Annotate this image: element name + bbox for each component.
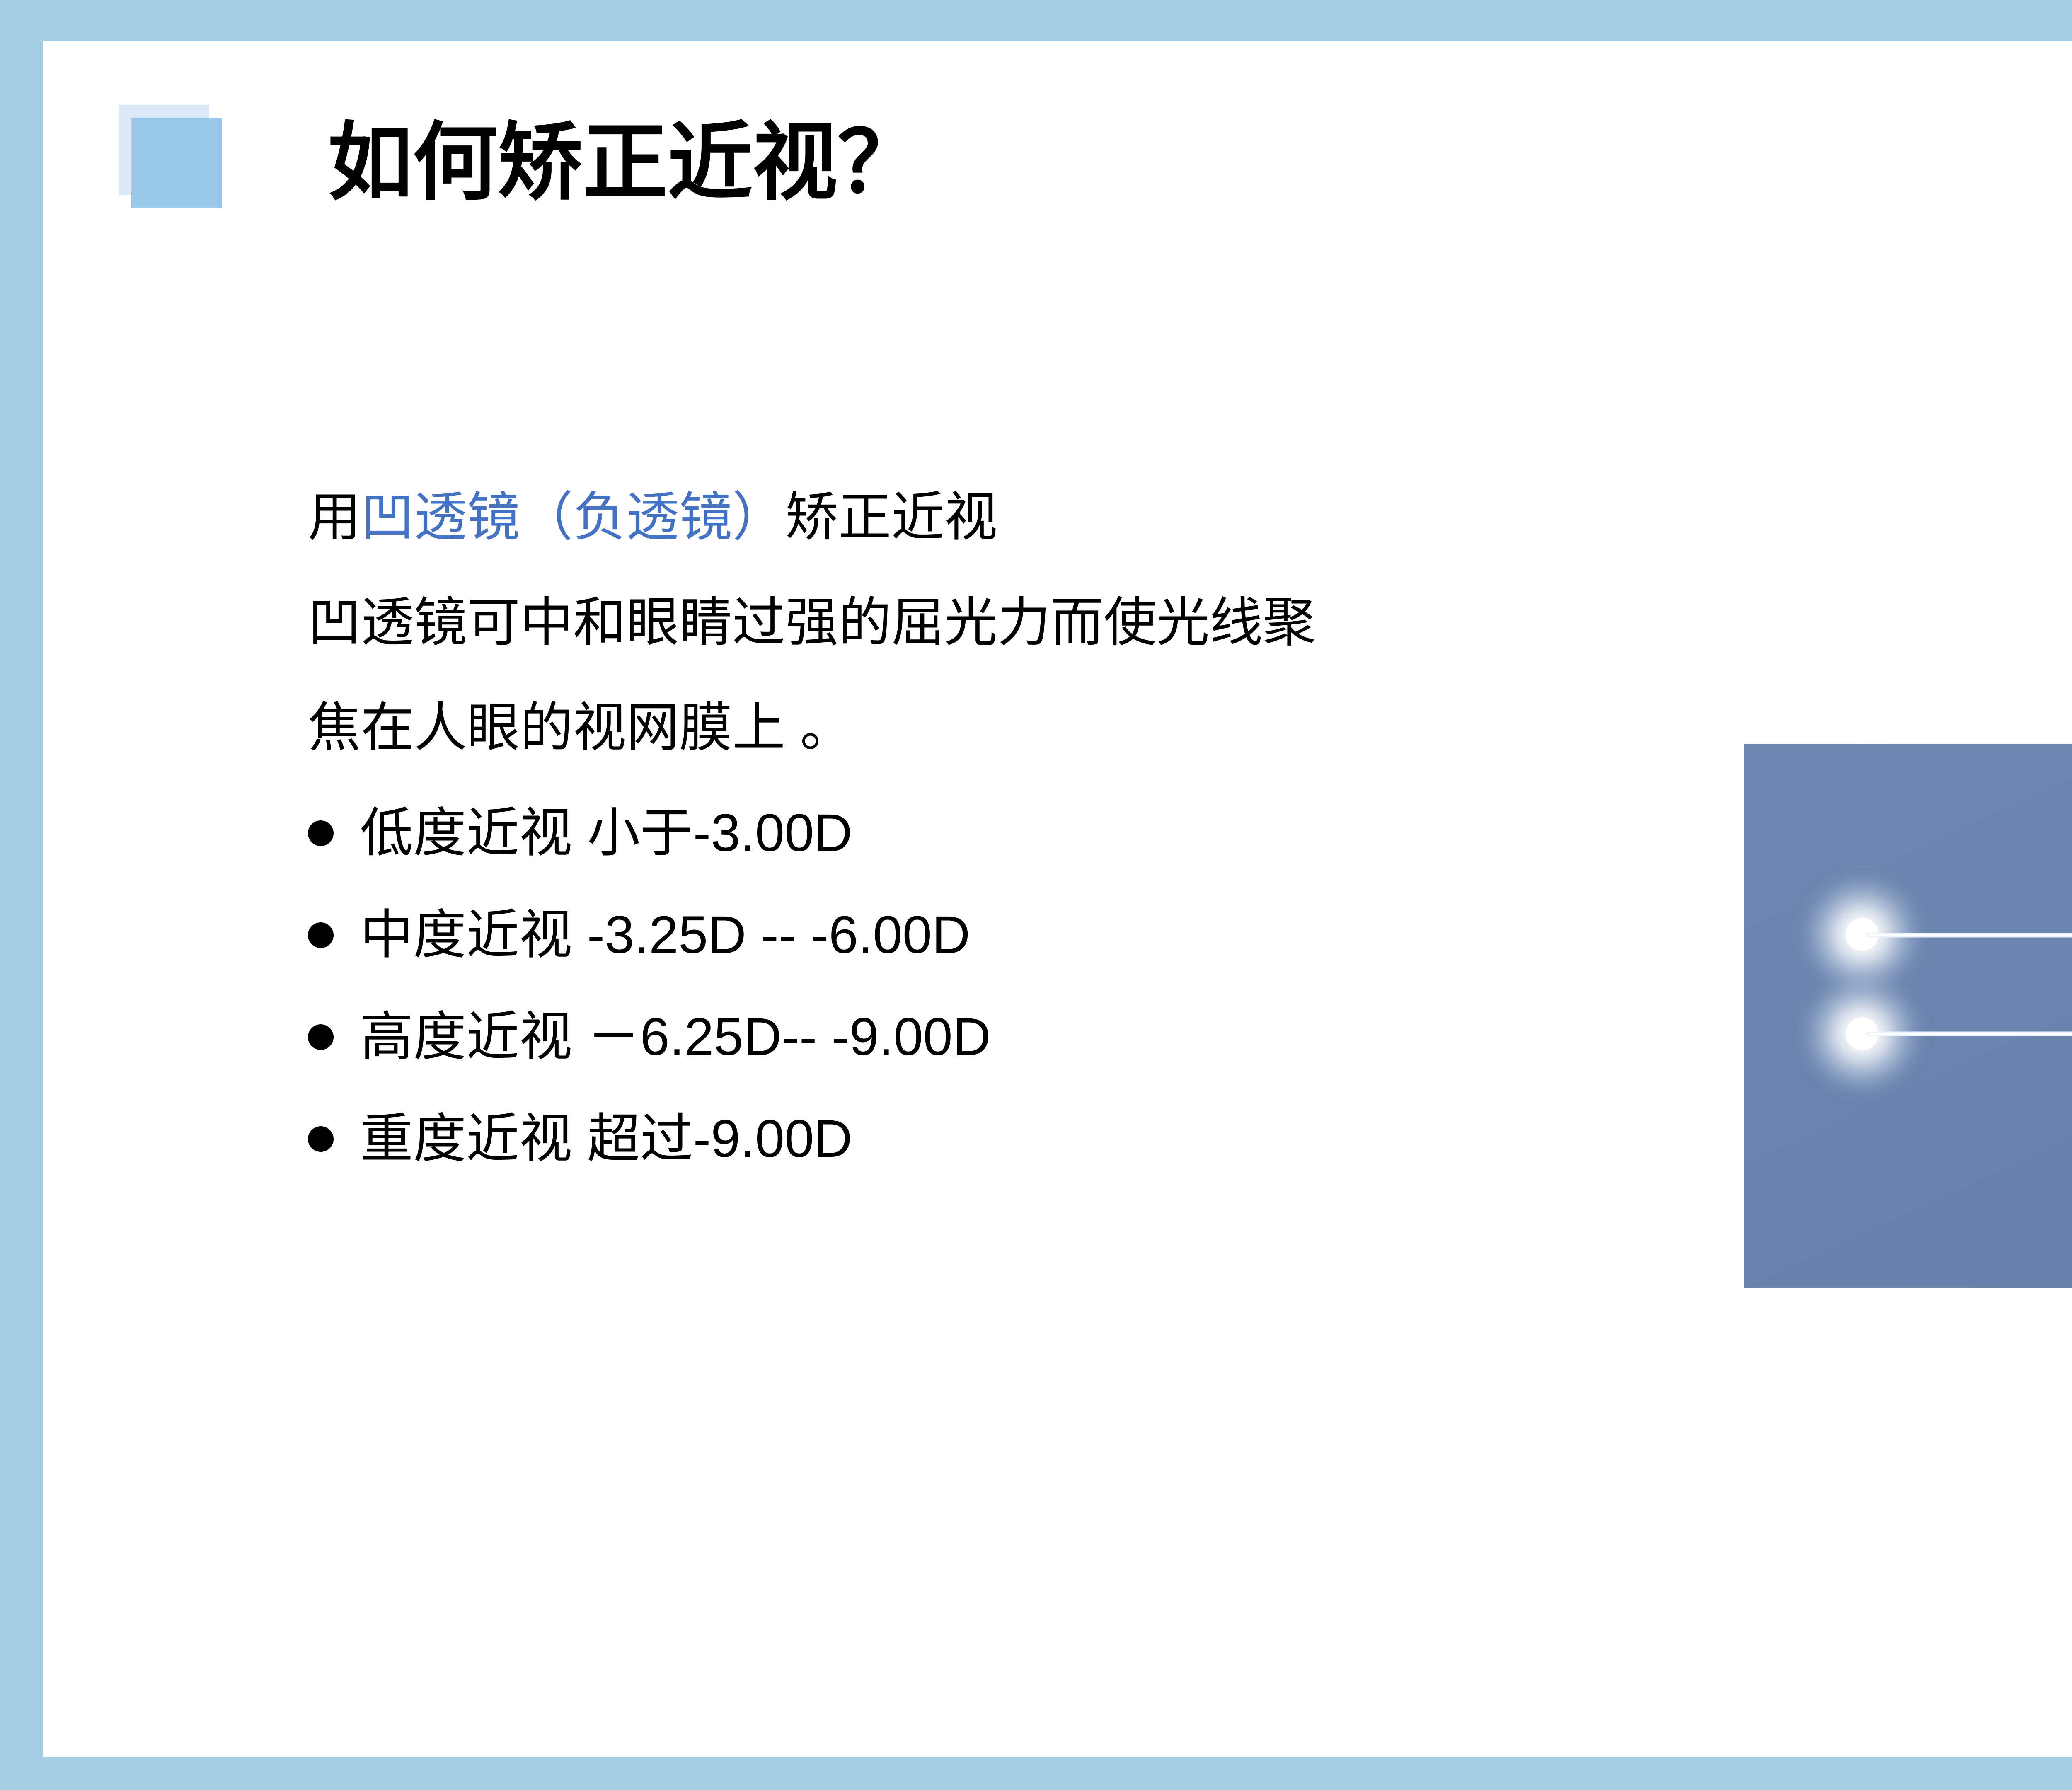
body-text-column: 用凹透镜（负透镜）矫正近视 凹透镜可中和眼睛过强的屈光力而使光线聚 焦在人眼的视…	[308, 491, 1675, 1214]
slide-background: 如何矫正近视？ 用凹透镜（负透镜）矫正近视 凹透镜可中和眼睛过强的屈光力而使光线…	[0, 0, 2072, 1790]
title-decoration-square-front	[131, 118, 222, 208]
bullet-dot-icon	[308, 820, 334, 846]
slide-canvas: 如何矫正近视？ 用凹透镜（负透镜）矫正近视 凹透镜可中和眼睛过强的屈光力而使光线…	[43, 41, 2072, 1757]
myopia-severity-list: 低度近视 小于-3.00D 中度近视 -3.25D -- -6.00D 高度近视…	[308, 807, 1675, 1166]
list-item: 低度近视 小于-3.00D	[308, 807, 1675, 860]
paragraph-1-suffix: 矫正近视	[785, 488, 997, 547]
list-item-text: 低度近视 小于-3.00D	[360, 807, 852, 860]
eye-diagram-image	[1744, 744, 2072, 1288]
paragraph-line-2: 凹透镜可中和眼睛过强的屈光力而使光线聚	[308, 596, 1675, 649]
bullet-dot-icon	[308, 1126, 334, 1152]
list-item-text: 高度近视 －6.25D-- -9.00D	[360, 1011, 991, 1064]
list-item-text: 重度近视 超过-9.00D	[360, 1113, 852, 1166]
bullet-dot-icon	[308, 922, 334, 948]
list-item: 中度近视 -3.25D -- -6.00D	[308, 909, 1675, 962]
paragraph-line-3: 焦在人眼的视网膜上 。	[308, 701, 1675, 755]
paragraph-line-1: 用凹透镜（负透镜）矫正近视	[308, 491, 1675, 544]
list-item-text: 中度近视 -3.25D -- -6.00D	[360, 909, 970, 962]
page-title: 如何矫正近视？	[328, 115, 922, 210]
title-block: 如何矫正近视？	[43, 41, 2072, 215]
list-item: 高度近视 －6.25D-- -9.00D	[308, 1011, 1675, 1064]
bullet-dot-icon	[308, 1024, 334, 1050]
paragraph-1-highlight: 凹透镜（负透镜）	[361, 488, 785, 547]
eye-diagram-svg	[1744, 744, 2072, 1288]
list-item: 重度近视 超过-9.00D	[308, 1113, 1675, 1166]
paragraph-1-prefix: 用	[308, 488, 361, 547]
